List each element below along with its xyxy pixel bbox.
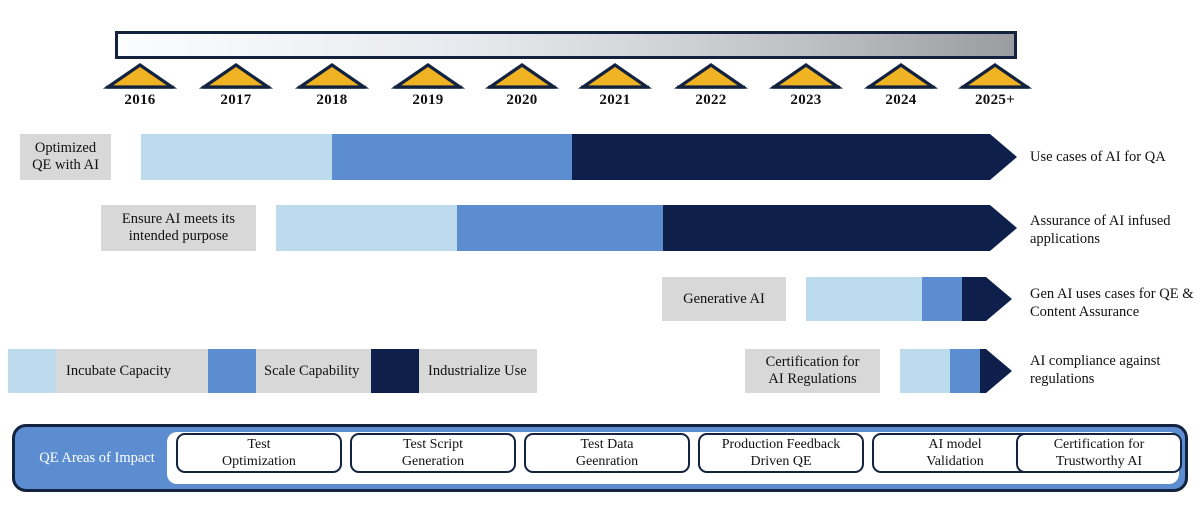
timeline-tick-label: 2020 [483,92,561,108]
legend: Incubate Capacity Scale Capability Indus… [8,349,537,393]
row-annotation-line2: regulations [1030,370,1195,388]
legend-swatch-incubate [8,349,56,393]
row-annotation-line1: Use cases of AI for QA [1030,148,1195,166]
timeline-tick-2021: 2021 [576,62,654,108]
pill-line1: Production Feedback [722,436,841,453]
row-tag-optimized-qe[interactable]: Optimized QE with AI [20,134,111,180]
timeline-marker-icon [672,62,750,90]
pill-line2: Geenration [576,453,638,470]
timeline-tick-label: 2016 [101,92,179,108]
pill-line2: Optimization [222,453,296,470]
row-annotation-line1: AI compliance against [1030,352,1195,370]
timeline-marker-icon [197,62,275,90]
row-arrow-ensure-ai[interactable] [276,205,1017,251]
timeline-tick-2017: 2017 [197,62,275,108]
row-tag-ensure-ai[interactable]: Ensure AI meets its intended purpose [101,205,256,251]
qe-area-test-script-generation[interactable]: Test Script Generation [350,433,516,473]
qe-area-test-data-generation[interactable]: Test Data Geenration [524,433,690,473]
timeline-tick-label: 2022 [672,92,750,108]
timeline-marker-icon [576,62,654,90]
qe-area-ai-model-validation[interactable]: AI model Validation [872,433,1038,473]
timeline-tick-2019: 2019 [389,62,467,108]
row-annotation-line1: Assurance of AI infused [1030,212,1200,230]
row-tag-line1: Generative AI [683,291,765,308]
timeline-tick-label: 2024 [862,92,940,108]
timeline-tick-2024: 2024 [862,62,940,108]
timeline-tick-label: 2019 [389,92,467,108]
row-tag-line1: Ensure AI meets its [122,211,235,228]
timeline-tick-2020: 2020 [483,62,561,108]
timeline-tick-label: 2021 [576,92,654,108]
row-tag-line1: Optimized [35,140,96,157]
timeline-tick-2025plus: 2025+ [956,62,1034,108]
row-annotation-line2: Content Assurance [1030,303,1200,321]
timeline-marker-icon [862,62,940,90]
row-arrow-optimized-qe[interactable] [141,134,1017,180]
legend-swatch-industrialize [371,349,419,393]
qe-area-test-optimization[interactable]: Test Optimization [176,433,342,473]
qe-areas-of-impact-band: QE Areas of Impact Test Optimization Tes… [12,424,1188,492]
row-tag-line2: QE with AI [32,157,99,174]
pill-line2: Trustworthy AI [1054,453,1145,470]
pill-line2: Validation [926,453,984,470]
legend-label-incubate: Incubate Capacity [66,349,211,393]
row-annotation-generative-ai: Gen AI uses cases for QE & Content Assur… [1030,285,1200,321]
timeline-marker-icon [101,62,179,90]
pill-line1: Certification for [1054,436,1145,453]
timeline-tick-label: 2018 [293,92,371,108]
pill-line2: Generation [402,453,464,470]
timeline-tick-2023: 2023 [767,62,845,108]
row-annotation-line1: Gen AI uses cases for QE & [1030,285,1200,303]
timeline-tick-2022: 2022 [672,62,750,108]
row-tag-generative-ai[interactable]: Generative AI [662,277,786,321]
timeline-marker-icon [293,62,371,90]
qe-area-certification-trustworthy-ai[interactable]: Certification for Trustworthy AI [1016,433,1182,473]
timeline-marker-icon [483,62,561,90]
row-tag-line2: intended purpose [129,228,228,245]
timeline-tick-2016: 2016 [101,62,179,108]
legend-label-industrialize: Industrialize Use [428,349,573,393]
row-arrow-certification[interactable] [900,349,1012,393]
qe-areas-of-impact-label: QE Areas of Impact [29,427,165,489]
pill-line2: Driven QE [722,453,841,470]
timeline-gradient-bar [115,31,1017,59]
row-tag-certification[interactable]: Certification for AI Regulations [745,349,880,393]
row-tag-line1: Certification for [766,354,860,371]
timeline-tick-label: 2017 [197,92,275,108]
legend-swatch-scale [208,349,256,393]
pill-line1: Test Data [576,436,638,453]
row-annotation-certification: AI compliance against regulations [1030,352,1195,388]
row-annotation-line2: applications [1030,230,1200,248]
timeline-marker-icon [956,62,1034,90]
row-tag-line2: AI Regulations [768,371,856,388]
row-annotation-optimized-qe: Use cases of AI for QA [1030,148,1195,166]
timeline-tick-label: 2023 [767,92,845,108]
row-arrow-generative-ai[interactable] [806,277,1012,321]
timeline-tick-2018: 2018 [293,62,371,108]
timeline-marker-icon [389,62,467,90]
timeline: 2016 2017 2018 2019 2020 2021 20 [0,0,1200,118]
qe-area-production-feedback-driven-qe[interactable]: Production Feedback Driven QE [698,433,864,473]
pill-line1: AI model [926,436,984,453]
pill-line1: Test Script [402,436,464,453]
timeline-tick-label: 2025+ [956,92,1034,108]
timeline-marker-icon [767,62,845,90]
pill-line1: Test [222,436,296,453]
row-annotation-ensure-ai: Assurance of AI infused applications [1030,212,1200,248]
